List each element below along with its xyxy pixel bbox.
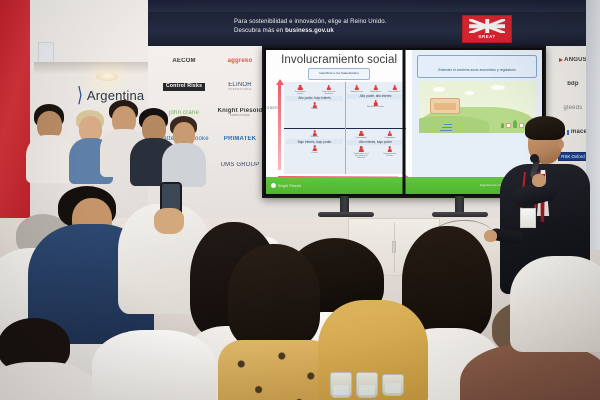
slide-footer-logo-label: Knight Piésold [278, 184, 301, 188]
audience-member [92, 330, 212, 400]
banner-link: business.gov.uk [285, 27, 334, 34]
person-icon [388, 131, 392, 137]
person-icon [298, 85, 302, 91]
screen-base-left [318, 212, 374, 217]
audience-torso [510, 256, 600, 352]
mine-site-icon [430, 98, 460, 114]
attendee-standing [28, 104, 70, 174]
illustration-hill-secondary [419, 116, 489, 133]
audience-torso [218, 340, 334, 400]
knight-piesold-logo: Knight Piésold [271, 183, 301, 188]
stakeholder-item: Gobierno local [348, 85, 365, 93]
sponsor-logo-elinor-sub: INTERNATIONAL [228, 89, 252, 92]
stakeholder-label: Instituciones de formación [320, 91, 337, 95]
booth-poster [38, 42, 54, 64]
booth-spotlight [96, 72, 118, 81]
sponsor-logo-primatek: PRIMATEK [224, 136, 257, 142]
stakeholder-label: Organizaciones sociales [381, 153, 398, 157]
stakeholder-item: Poblaciones en el área directa de influe… [353, 146, 370, 159]
stakeholder-item: Proveedores locales [292, 85, 309, 95]
water-icon [440, 123, 454, 131]
stakeholder-item: Gremios [306, 102, 323, 110]
stakeholder-item: Trabajadores [381, 131, 398, 139]
slide-subtitle-box: Identificar a los Stakeholders [308, 68, 370, 80]
slide-subtitle-text: Identificar a los Stakeholders [319, 72, 359, 76]
quadrant-caption: Alto poder, bajo interés [286, 96, 343, 101]
great-logo: GREAT [462, 15, 512, 43]
audience-member [222, 244, 328, 400]
axis-label-power: PODER [266, 106, 278, 110]
slide-title: Involucramiento social [270, 54, 408, 66]
logo-mark-icon [271, 183, 276, 188]
stakeholder-row: Gobierno local Reguladores Financiadores [347, 85, 404, 93]
sponsor-logo-ums-group: UMS GROUP [221, 162, 260, 168]
stakeholder-item: Prensa [306, 145, 323, 153]
slide-left-panel: Involucramiento social Identificar a los… [266, 50, 412, 177]
glass-jar [382, 374, 404, 396]
stakeholder-label: Prensa [312, 152, 318, 154]
sponsor-logo-aggreko: aggreko [228, 58, 253, 64]
banner-line-2-prefix: Descubra más en [234, 27, 285, 34]
conference-photo-scene: ⟩ Argentina Para sostenibilidad e innova… [0, 0, 600, 400]
presenter-badge [520, 208, 536, 228]
person-icon [359, 131, 363, 137]
glass-jar [330, 372, 352, 398]
great-britain-banner: Para sostenibilidad e innovación, elige … [148, 12, 600, 46]
audience-torso [0, 362, 100, 400]
stakeholder-label: Gobierno local [350, 91, 362, 93]
quadrant-caption: Bajo interés, bajo poder [286, 139, 343, 144]
quadrant-caption: Alto interés, bajo poder [347, 140, 404, 145]
stakeholder-item: Instituciones de formación [320, 85, 337, 95]
sponsor-logo-aecom: AECOM [172, 58, 195, 64]
audience-hair [228, 244, 320, 348]
sponsor-logo-elinor: ELINOR INTERNATIONAL [228, 82, 252, 91]
stakeholder-label: Visitantes [310, 136, 318, 138]
person-icon [313, 145, 317, 151]
attendee-torso [162, 143, 206, 187]
person-icon [313, 102, 317, 108]
sponsor-logo-angus-name: ANGUS [564, 57, 587, 63]
banner-line-2: Descubra más en business.gov.uk [234, 26, 449, 35]
stakeholder-item: Organizaciones sociales [381, 146, 398, 159]
sponsor-logo-knight-piesold: Knight Piésold CONSULTING [218, 108, 263, 117]
sponsor-logo-bdp: bdp [567, 81, 579, 87]
audience-torso [92, 330, 216, 400]
great-logo-word: GREAT [478, 34, 495, 39]
audience-hand [154, 208, 184, 234]
person-icon [359, 146, 363, 152]
presenter-hair [525, 116, 565, 140]
person-icon [388, 146, 392, 152]
person-icon [393, 85, 397, 91]
stakeholder-label: Poblaciones en el área directa de influe… [353, 153, 370, 159]
quadrant-alto-interes-bajo-poder: Comunidades Trabajadores Alto interés, b… [345, 128, 406, 174]
quadrant-caption: Alto poder, alto interés [347, 94, 404, 99]
stakeholder-matrix: PODER INTERÉS Proveedores locales [284, 82, 406, 174]
audience-torso [460, 344, 600, 400]
stakeholder-row: Comunidades Trabajadores [347, 131, 404, 139]
glass-jar [356, 372, 378, 398]
microphone-head-icon [530, 154, 539, 163]
context-header-text: Entender el contexto socio-económico y r… [438, 68, 515, 72]
phone-screen [162, 184, 180, 210]
attendee-standing [166, 116, 202, 180]
stakeholder-row: Poblaciones en el área directa de influe… [347, 146, 404, 159]
audience-member [0, 318, 88, 400]
stakeholder-label: Proveedores locales [292, 91, 309, 95]
stakeholder-label: Autoridades locales [367, 106, 384, 108]
screen-bezel-divider [403, 48, 406, 196]
stakeholder-label: Gremios [311, 108, 318, 110]
stakeholder-label: Reguladores [370, 91, 381, 93]
presenter-ear [558, 140, 564, 149]
person-icon [327, 85, 331, 91]
union-jack-icon [469, 19, 505, 33]
quadrant-alto-poder-alto-interes: Gobierno local Reguladores Financiadores [345, 82, 406, 128]
quadrant-alto-poder-bajo-interes: Proveedores locales Instituciones de for… [284, 82, 345, 128]
sponsor-logo-angus: ANGUS [559, 57, 587, 63]
attendee-torso [26, 135, 74, 183]
person-icon [374, 85, 378, 91]
stakeholder-item: Visitantes [306, 130, 323, 138]
person-icon [313, 130, 317, 136]
sponsor-logo-knight-piesold-sub: CONSULTING [218, 115, 263, 118]
argentina-chevron-icon: ⟩ [77, 85, 83, 105]
booth-ceiling-beam [34, 62, 156, 74]
banner-line-1: Para sostenibilidad e innovación, elige … [234, 17, 449, 26]
person-icon [374, 100, 378, 106]
quadrant-bajo-interes-bajo-poder: Visitantes Bajo interés, bajo poder Pren… [284, 128, 345, 174]
screen-base-right [432, 212, 488, 217]
stakeholder-label: Financiadores [389, 91, 401, 93]
presenter-hand [532, 174, 546, 187]
stakeholder-item: Financiadores [386, 85, 403, 93]
angus-triangle-icon [559, 58, 563, 62]
banner-text: Para sostenibilidad e innovación, elige … [234, 17, 449, 36]
sponsor-logo-control-risks: Control Risks [163, 83, 205, 91]
stakeholder-row: Proveedores locales Instituciones de for… [286, 85, 343, 95]
stakeholder-item: Autoridades locales [367, 100, 384, 108]
stakeholder-item: Comunidades [353, 131, 370, 139]
audience-member [510, 256, 600, 346]
stakeholder-item: Reguladores [367, 85, 384, 93]
stakeholder-label: Trabajadores [384, 137, 395, 139]
sponsor-logo-gleeds: gleeds [564, 105, 583, 111]
person-icon [355, 85, 359, 91]
stakeholder-label: Comunidades [355, 137, 367, 139]
context-header-box: Entender el contexto socio-económico y r… [417, 55, 536, 78]
power-axis [278, 84, 281, 170]
